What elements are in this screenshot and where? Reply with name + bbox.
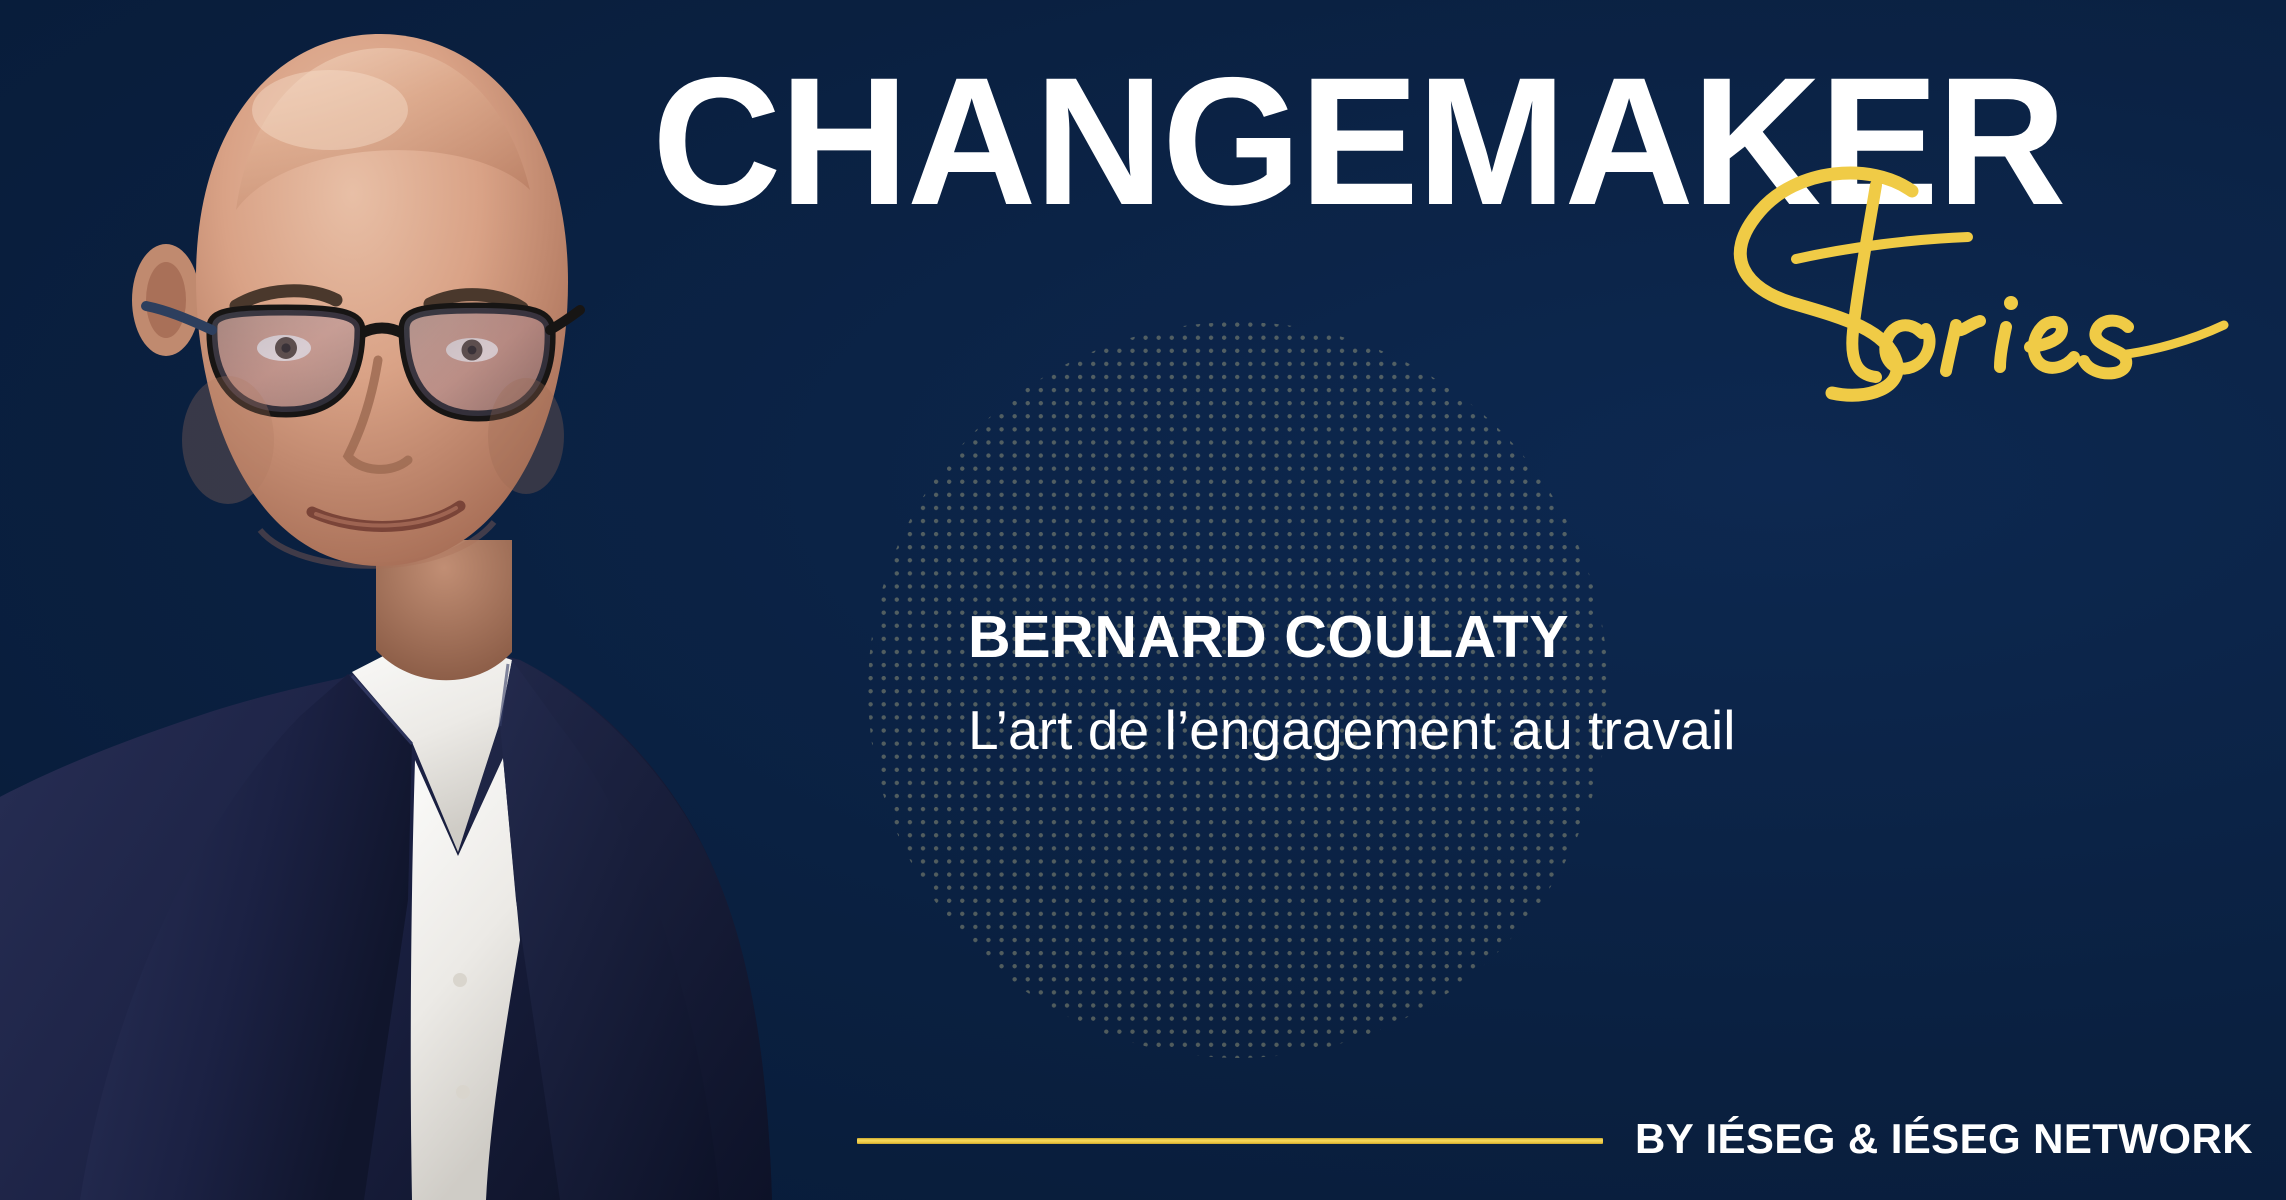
footer-credit: BY IÉSEG & IÉSEG NETWORK [1635, 1114, 2253, 1164]
poster-canvas: CHANGEMAKER [0, 0, 2286, 1200]
person-name: BERNARD COULATY [968, 604, 2148, 670]
person-tagline: L’art de l’engagement au travail [968, 698, 2148, 762]
person-block: BERNARD COULATY L’art de l’engagement au… [968, 604, 2148, 762]
poster-headline: CHANGEMAKER [652, 50, 2252, 250]
yellow-divider-line [857, 1138, 1603, 1144]
headline-changemaker: CHANGEMAKER [652, 50, 2228, 232]
